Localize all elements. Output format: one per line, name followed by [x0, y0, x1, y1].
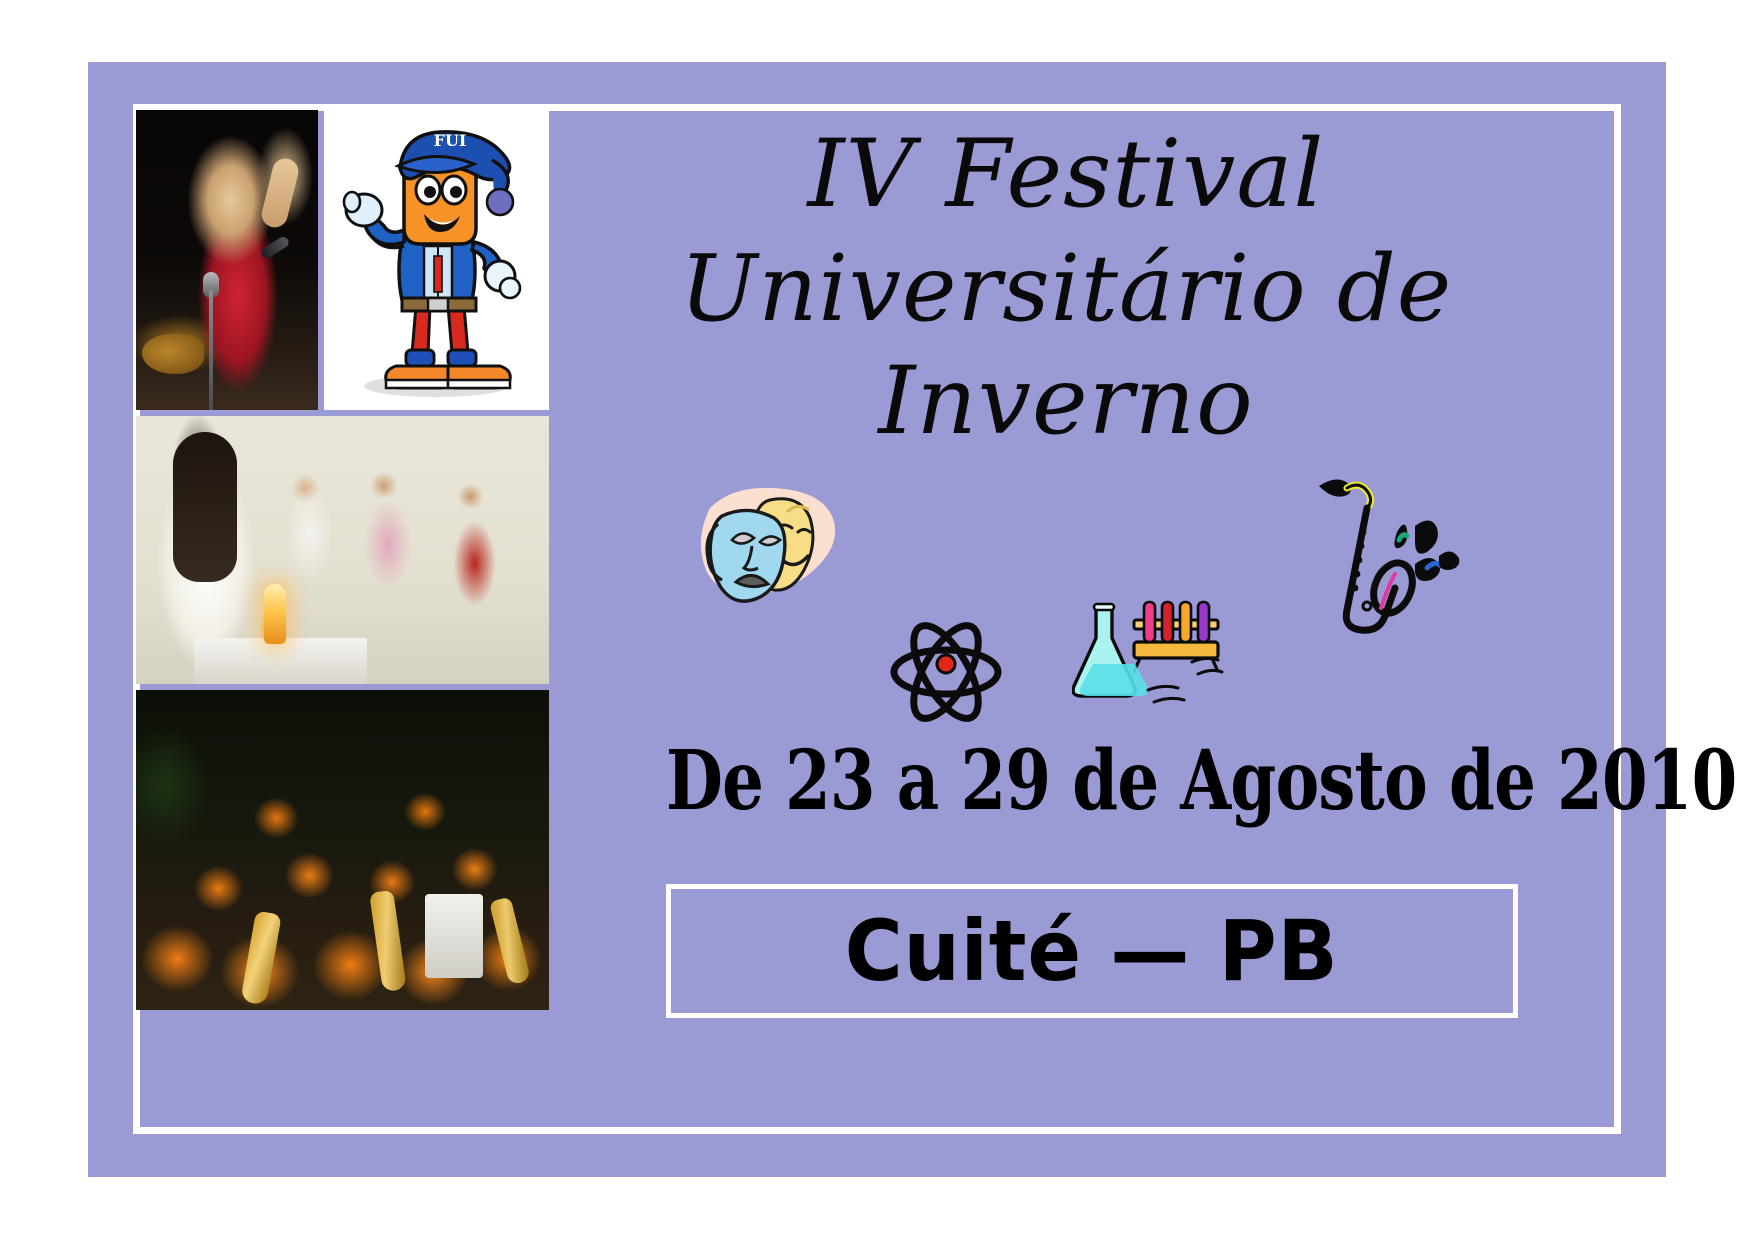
- plastic-chair: [425, 894, 483, 978]
- location-text: Cuité — PB: [845, 909, 1339, 993]
- microphone-stand: [209, 290, 213, 410]
- handheld-microphone: [259, 235, 290, 260]
- photo-collage: FUI: [136, 110, 549, 1010]
- mascot-svg: FUI: [324, 110, 549, 410]
- title-line-1: IV Festival: [566, 118, 1566, 233]
- lab-glassware-icon: [1072, 598, 1232, 733]
- poster-panel: FUI IV Festival Universitário de Inverno: [88, 62, 1666, 1177]
- theater-masks-icon: [684, 478, 844, 623]
- background-guitar: [142, 334, 204, 374]
- poster-content: IV Festival Universitário de Inverno: [566, 100, 1566, 1030]
- location-box: Cuité — PB: [666, 884, 1518, 1018]
- saxophone-1: [240, 910, 282, 1005]
- saxophone-icon: [1311, 460, 1471, 635]
- lab-bench: [194, 638, 367, 684]
- mascot-illustration: FUI: [324, 110, 549, 410]
- title-line-2: Universitário de: [566, 233, 1566, 345]
- chemistry-demo-photo: [136, 416, 549, 684]
- band-photo: [136, 690, 549, 1010]
- title-line-3: Inverno: [566, 345, 1566, 460]
- singer-arm: [259, 156, 301, 230]
- saxophone-2: [369, 890, 407, 992]
- singer-photo: [136, 110, 318, 410]
- page-title: IV Festival Universitário de Inverno: [566, 100, 1566, 460]
- burner-flame: [264, 584, 286, 644]
- mascot-hat-label: FUI: [434, 131, 467, 150]
- instructor-hair: [173, 432, 237, 582]
- photo-row-top: FUI: [136, 110, 549, 410]
- event-date: De 23 a 29 de Agosto de 2010: [666, 740, 1466, 822]
- saxophone-3: [489, 897, 531, 986]
- atom-icon: [886, 620, 1006, 730]
